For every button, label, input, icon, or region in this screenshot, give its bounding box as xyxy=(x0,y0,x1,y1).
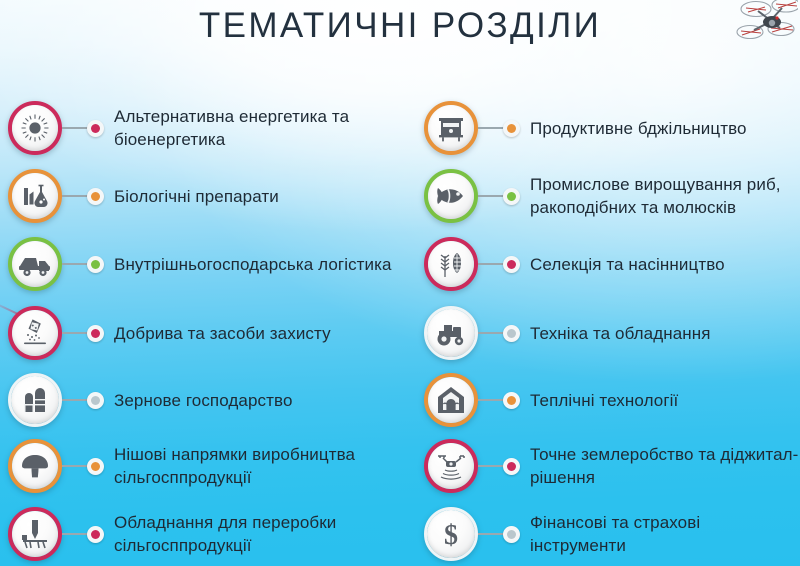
connector xyxy=(62,255,104,273)
connector xyxy=(478,119,520,137)
mushroom-icon xyxy=(18,449,52,483)
connector xyxy=(478,525,520,543)
section-item-grain-farming[interactable]: Зернове господарство xyxy=(8,373,408,427)
section-item-niche-production[interactable]: Нішові напрямки виробництва сільгосппрод… xyxy=(8,439,408,493)
connector xyxy=(478,324,520,342)
section-item-finance-insurance[interactable]: $ Фінансові та страхові інструменти xyxy=(424,507,800,561)
section-item-fertilizers[interactable]: Добрива та засоби захисту xyxy=(8,306,408,360)
section-label: Внутрішньогосподарська логістика xyxy=(114,253,392,276)
section-item-processing-equipment[interactable]: Обладнання для переробки сільгосппродукц… xyxy=(8,507,408,561)
section-label: Обладнання для переробки сільгосппродукц… xyxy=(114,511,408,557)
connector xyxy=(62,525,104,543)
section-label: Продуктивне бджільництво xyxy=(530,117,747,140)
badge-alternative-energy xyxy=(8,101,62,155)
section-label: Техніка та обладнання xyxy=(530,322,711,345)
fish-icon xyxy=(434,179,468,213)
badge-fertilizers xyxy=(8,306,62,360)
drone-icon xyxy=(736,0,798,54)
processing-equipment-icon xyxy=(18,517,52,551)
connector xyxy=(478,391,520,409)
badge-precision-farming xyxy=(424,439,478,493)
tractor-icon xyxy=(434,316,468,350)
section-item-internal-logistics[interactable]: Внутрішньогосподарська логістика xyxy=(8,237,408,291)
grain-silo-icon xyxy=(18,383,52,417)
connector xyxy=(62,324,104,342)
section-label: Біологічні препарати xyxy=(114,185,279,208)
greenhouse-icon xyxy=(434,383,468,417)
badge-finance-insurance: $ xyxy=(424,507,478,561)
connector xyxy=(62,391,104,409)
section-label: Теплічні технології xyxy=(530,389,678,412)
badge-grain-farming xyxy=(8,373,62,427)
connector xyxy=(478,187,520,205)
beehive-icon xyxy=(434,111,468,145)
section-label: Зернове господарство xyxy=(114,389,293,412)
section-label: Фінансові та страхові інструменти xyxy=(530,511,800,557)
section-item-alternative-energy[interactable]: Альтернативна енергетика та біоенергетик… xyxy=(8,101,408,155)
badge-niche-production xyxy=(8,439,62,493)
badge-greenhouse xyxy=(424,373,478,427)
badge-processing-equipment xyxy=(8,507,62,561)
badge-breeding-seeds xyxy=(424,237,478,291)
connector xyxy=(478,255,520,273)
sun-energy-icon xyxy=(18,111,52,145)
section-item-greenhouse[interactable]: Теплічні технології xyxy=(424,373,800,427)
svg-text:$: $ xyxy=(444,520,458,551)
section-item-bio-preparations[interactable]: Біологічні препарати xyxy=(8,169,408,223)
connector xyxy=(478,457,520,475)
fertilizer-bag-icon xyxy=(18,316,52,350)
section-label: Добрива та засоби захисту xyxy=(114,322,331,345)
section-label: Точне землеробство та діджитал-рішення xyxy=(530,443,800,489)
badge-machinery xyxy=(424,306,478,360)
section-item-breeding-seeds[interactable]: Селекція та насінництво xyxy=(424,237,800,291)
section-item-aquaculture[interactable]: Промислове вирощування риб, ракоподібних… xyxy=(424,169,800,223)
connector xyxy=(62,457,104,475)
badge-bio-preparations xyxy=(8,169,62,223)
connector xyxy=(62,187,104,205)
section-label: Селекція та насінництво xyxy=(530,253,725,276)
dollar-icon: $ xyxy=(434,517,468,551)
section-item-beekeeping[interactable]: Продуктивне бджільництво xyxy=(424,101,800,155)
connector xyxy=(62,119,104,137)
section-label: Промислове вирощування риб, ракоподібних… xyxy=(530,173,800,219)
badge-beekeeping xyxy=(424,101,478,155)
section-label: Альтернативна енергетика та біоенергетик… xyxy=(114,105,408,151)
section-label: Нішові напрямки виробництва сільгосппрод… xyxy=(114,443,408,489)
dump-truck-icon xyxy=(18,247,52,281)
section-item-machinery[interactable]: Техніка та обладнання xyxy=(424,306,800,360)
page-title: ТЕМАТИЧНІ РОЗДІЛИ xyxy=(0,6,800,46)
wheat-corn-icon xyxy=(434,247,468,281)
lab-flask-factory-icon xyxy=(18,179,52,213)
badge-internal-logistics xyxy=(8,237,62,291)
drone-precision-icon xyxy=(434,449,468,483)
badge-aquaculture xyxy=(424,169,478,223)
section-item-precision-farming[interactable]: Точне землеробство та діджитал-рішення xyxy=(424,439,800,493)
thematic-sections-slide: ТЕМАТИЧНІ РОЗДІЛИ xyxy=(0,0,800,566)
